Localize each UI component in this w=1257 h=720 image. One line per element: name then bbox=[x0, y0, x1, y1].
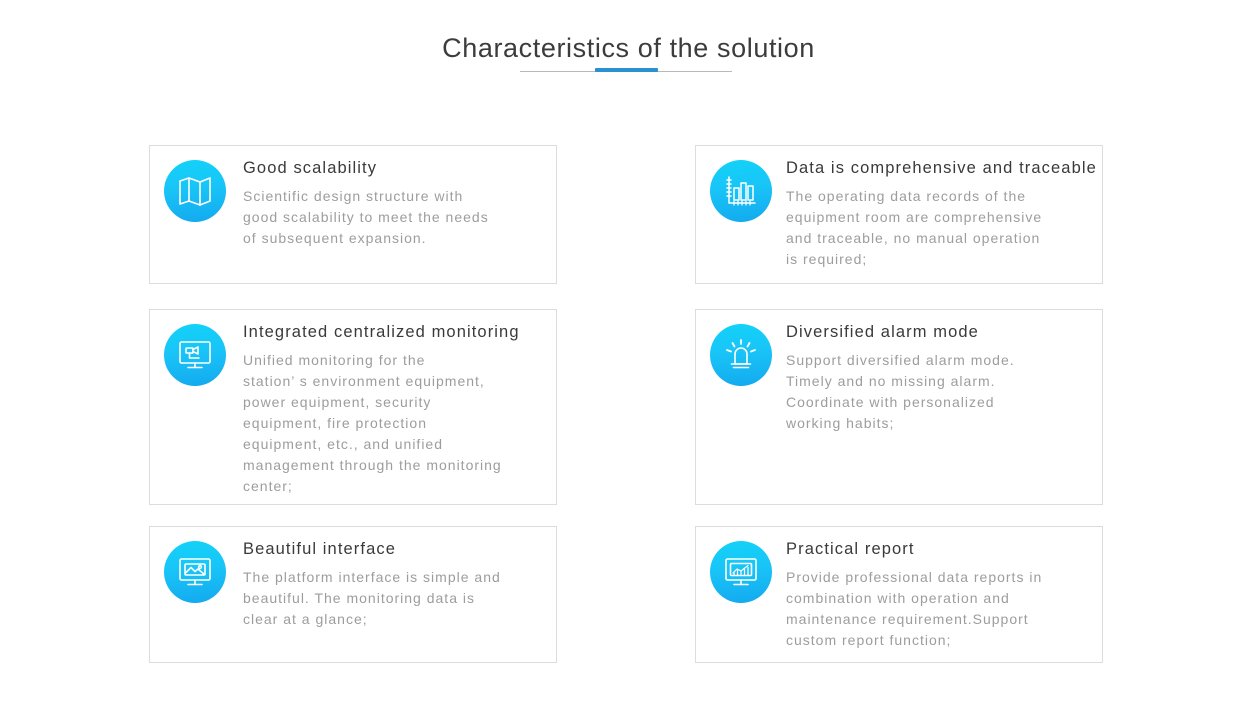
folded-map-icon bbox=[164, 160, 226, 222]
feature-card-good-scalability[interactable]: Good scalability Scientific design struc… bbox=[149, 145, 557, 284]
page-title: Characteristics of the solution bbox=[0, 0, 1257, 66]
card-text-block: Beautiful interface The platform interfa… bbox=[243, 538, 573, 630]
card-text-block: Integrated centralized monitoring Unifie… bbox=[243, 321, 573, 497]
card-text-block: Diversified alarm mode Support diversifi… bbox=[786, 321, 1126, 434]
card-title: Good scalability bbox=[243, 157, 573, 180]
card-text-block: Data is comprehensive and traceable The … bbox=[786, 157, 1126, 270]
card-title: Practical report bbox=[786, 538, 1126, 561]
feature-card-beautiful-interface[interactable]: Beautiful interface The platform interfa… bbox=[149, 526, 557, 663]
page-header: Characteristics of the solution bbox=[0, 0, 1257, 66]
feature-card-diversified-alarm[interactable]: Diversified alarm mode Support diversifi… bbox=[695, 309, 1103, 505]
card-description: Provide professional data reports in com… bbox=[786, 567, 1126, 651]
alarm-siren-icon bbox=[710, 324, 772, 386]
title-divider-accent bbox=[595, 68, 658, 72]
bar-chart-icon bbox=[710, 160, 772, 222]
monitor-report-icon bbox=[710, 541, 772, 603]
monitor-image-icon bbox=[164, 541, 226, 603]
card-description: Unified monitoring for the station’ s en… bbox=[243, 350, 573, 497]
feature-card-data-traceable[interactable]: Data is comprehensive and traceable The … bbox=[695, 145, 1103, 284]
card-text-block: Practical report Provide professional da… bbox=[786, 538, 1126, 651]
monitor-camera-icon bbox=[164, 324, 226, 386]
card-title: Beautiful interface bbox=[243, 538, 573, 561]
card-description: The platform interface is simple and bea… bbox=[243, 567, 573, 630]
card-description: The operating data records of the equipm… bbox=[786, 186, 1126, 270]
card-title: Integrated centralized monitoring bbox=[243, 321, 573, 344]
card-title: Data is comprehensive and traceable bbox=[786, 157, 1126, 180]
feature-card-integrated-monitoring[interactable]: Integrated centralized monitoring Unifie… bbox=[149, 309, 557, 505]
card-title: Diversified alarm mode bbox=[786, 321, 1126, 344]
card-text-block: Good scalability Scientific design struc… bbox=[243, 157, 573, 249]
card-description: Support diversified alarm mode. Timely a… bbox=[786, 350, 1126, 434]
card-description: Scientific design structure with good sc… bbox=[243, 186, 573, 249]
feature-card-practical-report[interactable]: Practical report Provide professional da… bbox=[695, 526, 1103, 663]
